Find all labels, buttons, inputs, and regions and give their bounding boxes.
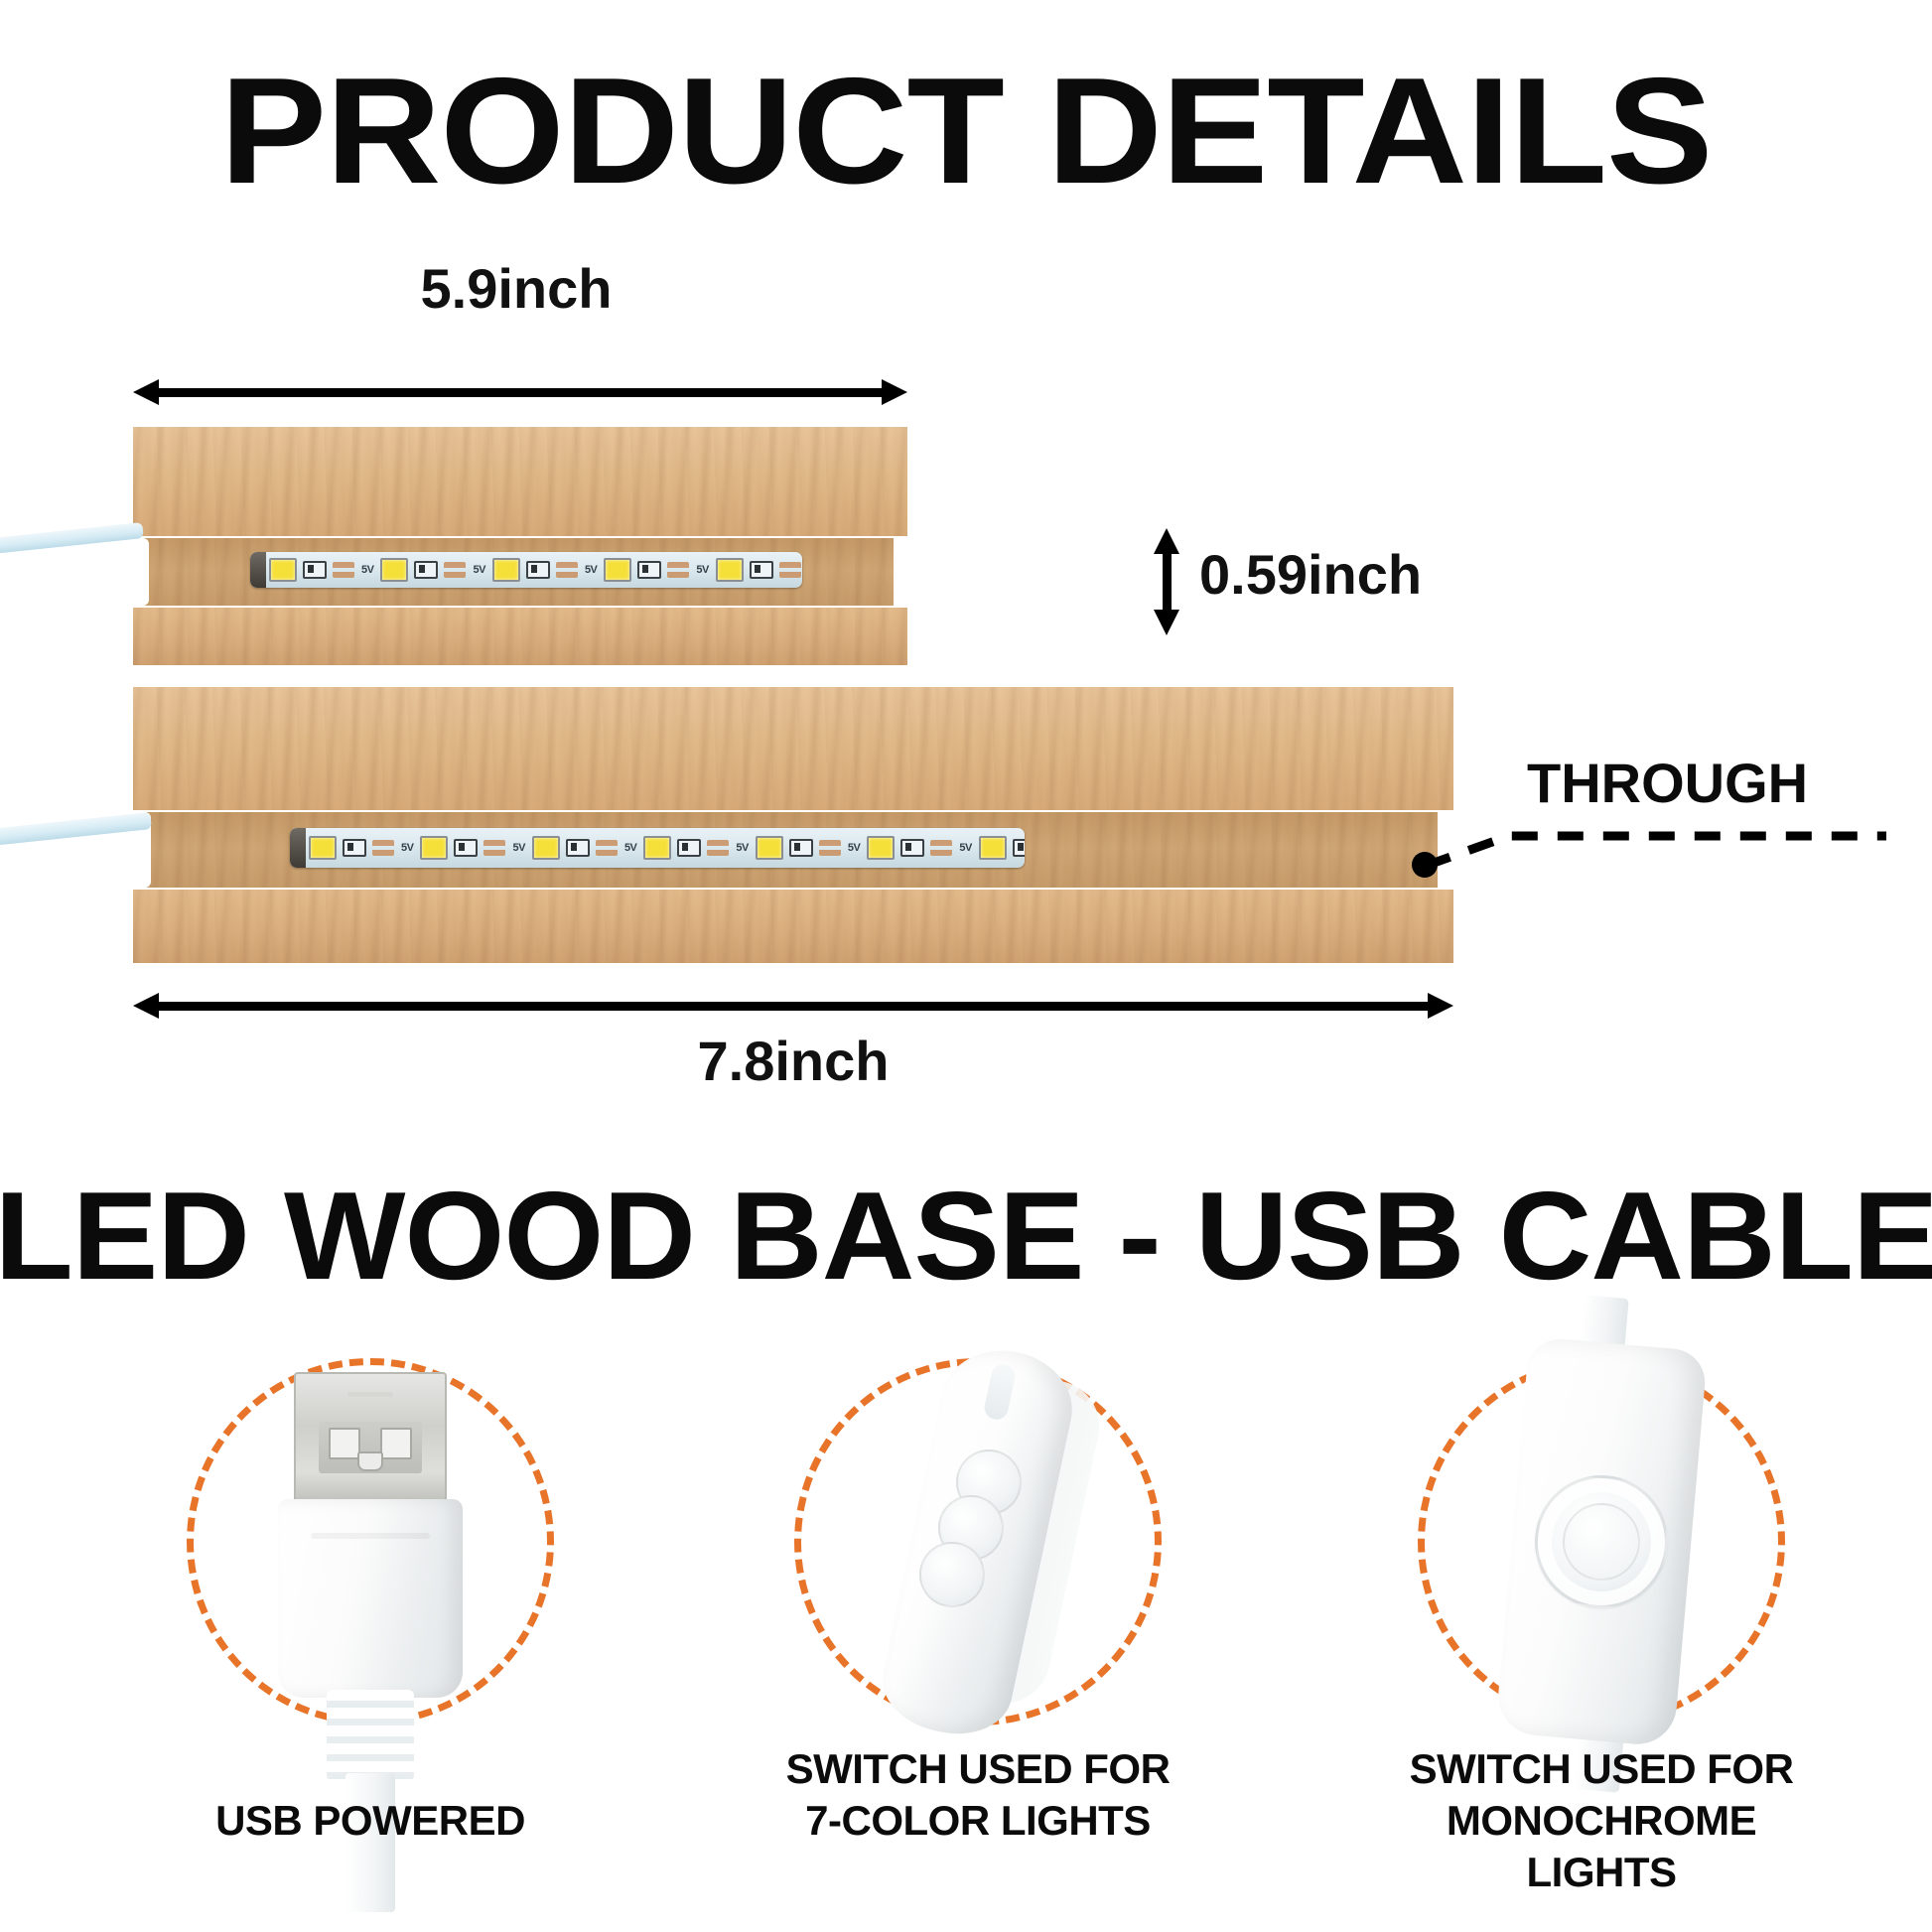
resistor — [414, 561, 438, 579]
solder-pads — [819, 840, 841, 856]
led-strip-bottom: 5V 5V 5V 5V 5V 5V 5V 5V 5V 5V 5V 5V — [290, 828, 1025, 868]
solder-pads — [333, 562, 354, 578]
usb-cable-bottom — [0, 812, 152, 845]
usb-metal-shell — [294, 1372, 447, 1505]
voltage-mark: 5V — [959, 842, 971, 854]
solder-pads — [556, 562, 578, 578]
feature-caption-7-color: SWITCH USED FOR 7-COLOR LIGHTS — [784, 1743, 1172, 1847]
usb-slot-right — [380, 1428, 412, 1459]
wood-base-top: 5V 5V 5V 5V 5V 5V 5V 5V 5V 5V — [133, 427, 907, 665]
solder-pads — [707, 840, 729, 856]
voltage-mark: 5V — [696, 564, 708, 576]
led-chip — [867, 836, 895, 860]
usb-slot-left — [329, 1428, 360, 1459]
resistor — [900, 839, 924, 857]
resistor — [677, 839, 701, 857]
solder-pads — [667, 562, 689, 578]
led-chip — [309, 836, 337, 860]
resistor — [303, 561, 327, 579]
solder-pads — [930, 840, 952, 856]
caption-line-2: 7-COLOR LIGHTS — [784, 1795, 1172, 1847]
usb-center-tab — [357, 1451, 383, 1471]
feature-usb-powered: USB POWERED — [177, 1358, 564, 1914]
arrow-bar — [146, 1002, 1441, 1011]
solder-pads — [483, 840, 505, 856]
led-chip — [756, 836, 783, 860]
led-segment: 5V — [417, 828, 528, 868]
led-segment: 5V — [713, 552, 802, 588]
led-chip — [492, 558, 520, 582]
wood-cable-notch — [131, 538, 149, 606]
usb-top-notch — [347, 1392, 393, 1397]
led-chip — [716, 558, 744, 582]
dimension-arrow-height — [1154, 528, 1179, 635]
led-segment: 5V — [306, 828, 417, 868]
led-segment: 5V — [377, 552, 488, 588]
arrowhead-right — [1428, 993, 1453, 1019]
through-callout-label: THROUGH — [1527, 751, 1808, 815]
caption-line-1: SWITCH USED FOR — [784, 1743, 1172, 1795]
dimension-label-bottom-width: 7.8inch — [133, 1029, 1453, 1093]
usb-strain-relief — [327, 1690, 414, 1781]
dimension-arrow-top-width — [133, 379, 907, 405]
usb-contact-block — [319, 1422, 422, 1473]
led-segment: 5V — [976, 828, 1025, 868]
feature-caption-monochrome: SWITCH USED FOR MONOCHROME LIGHTS — [1388, 1743, 1815, 1898]
resistor — [1013, 839, 1025, 857]
dimension-label-top-width: 5.9inch — [0, 256, 1033, 321]
led-chip — [604, 558, 631, 582]
led-segment: 5V — [489, 552, 601, 588]
dimension-arrow-bottom-width — [133, 993, 1453, 1019]
voltage-mark: 5V — [512, 842, 524, 854]
voltage-mark: 5V — [361, 564, 373, 576]
led-segment: 5V — [864, 828, 975, 868]
resistor — [343, 839, 366, 857]
voltage-mark: 5V — [473, 564, 484, 576]
voltage-mark: 5V — [585, 564, 597, 576]
usb-plastic-housing — [278, 1499, 463, 1698]
inline-rocker-switch-icon — [1418, 1358, 1785, 1725]
inline-3-button-switch-icon — [794, 1358, 1162, 1725]
section-title-led-wood-base: LED WOOD BASE - USB CABLE — [0, 1170, 1932, 1303]
resistor — [789, 839, 813, 857]
voltage-mark: 5V — [736, 842, 748, 854]
arrowhead-right — [882, 379, 907, 405]
led-chip — [532, 836, 560, 860]
product-details-infographic: PRODUCT DETAILS 5.9inch 5V 5V 5V 5V 5V 5… — [0, 0, 1932, 1932]
led-chip — [269, 558, 297, 582]
resistor — [454, 839, 478, 857]
usb-cable-top — [0, 522, 144, 554]
resistor — [750, 561, 773, 579]
led-chip — [380, 558, 408, 582]
voltage-mark: 5V — [401, 842, 413, 854]
led-chip — [979, 836, 1007, 860]
led-segment: 5V — [601, 552, 712, 588]
switch-button-3 — [919, 1542, 985, 1607]
wood-top-face — [133, 427, 907, 536]
wood-bottom-lip — [133, 890, 1453, 963]
caption-line-1: SWITCH USED FOR — [1388, 1743, 1815, 1795]
strip-endcap — [250, 552, 266, 588]
solder-pads — [779, 562, 801, 578]
resistor — [637, 561, 661, 579]
dimension-label-height: 0.59inch — [1199, 542, 1422, 607]
led-segment: 5V — [266, 552, 377, 588]
arrowhead-down — [1154, 610, 1179, 635]
led-segment: 5V — [529, 828, 640, 868]
arrow-bar — [146, 388, 895, 397]
usb-plug-icon — [276, 1372, 465, 1729]
voltage-mark: 5V — [624, 842, 636, 854]
caption-line-1: USB POWERED — [177, 1795, 564, 1847]
caption-line-2: MONOCHROME LIGHTS — [1388, 1795, 1815, 1898]
wood-right-step — [1438, 812, 1455, 888]
resistor — [526, 561, 550, 579]
page-title: PRODUCT DETAILS — [0, 52, 1932, 210]
wood-base-bottom: 5V 5V 5V 5V 5V 5V 5V 5V 5V 5V 5V 5V — [133, 687, 1453, 963]
solder-pads — [596, 840, 618, 856]
led-chip — [643, 836, 671, 860]
led-strip-top: 5V 5V 5V 5V 5V 5V 5V 5V 5V 5V — [250, 552, 802, 588]
solder-pads — [444, 562, 466, 578]
wood-bottom-lip — [133, 608, 907, 665]
feature-switch-monochrome: SWITCH USED FOR MONOCHROME LIGHTS — [1388, 1358, 1815, 1914]
solder-pads — [372, 840, 394, 856]
usb-housing-seam — [311, 1533, 429, 1539]
wood-right-step — [894, 538, 909, 606]
voltage-mark: 5V — [848, 842, 860, 854]
led-segment: 5V — [640, 828, 752, 868]
feature-caption-usb: USB POWERED — [177, 1795, 564, 1847]
resistor — [566, 839, 590, 857]
led-chip — [420, 836, 448, 860]
led-segment: 5V — [753, 828, 864, 868]
wood-top-face — [133, 687, 1453, 810]
feature-switch-7-color: SWITCH USED FOR 7-COLOR LIGHTS — [784, 1358, 1172, 1914]
strip-endcap — [290, 828, 306, 868]
